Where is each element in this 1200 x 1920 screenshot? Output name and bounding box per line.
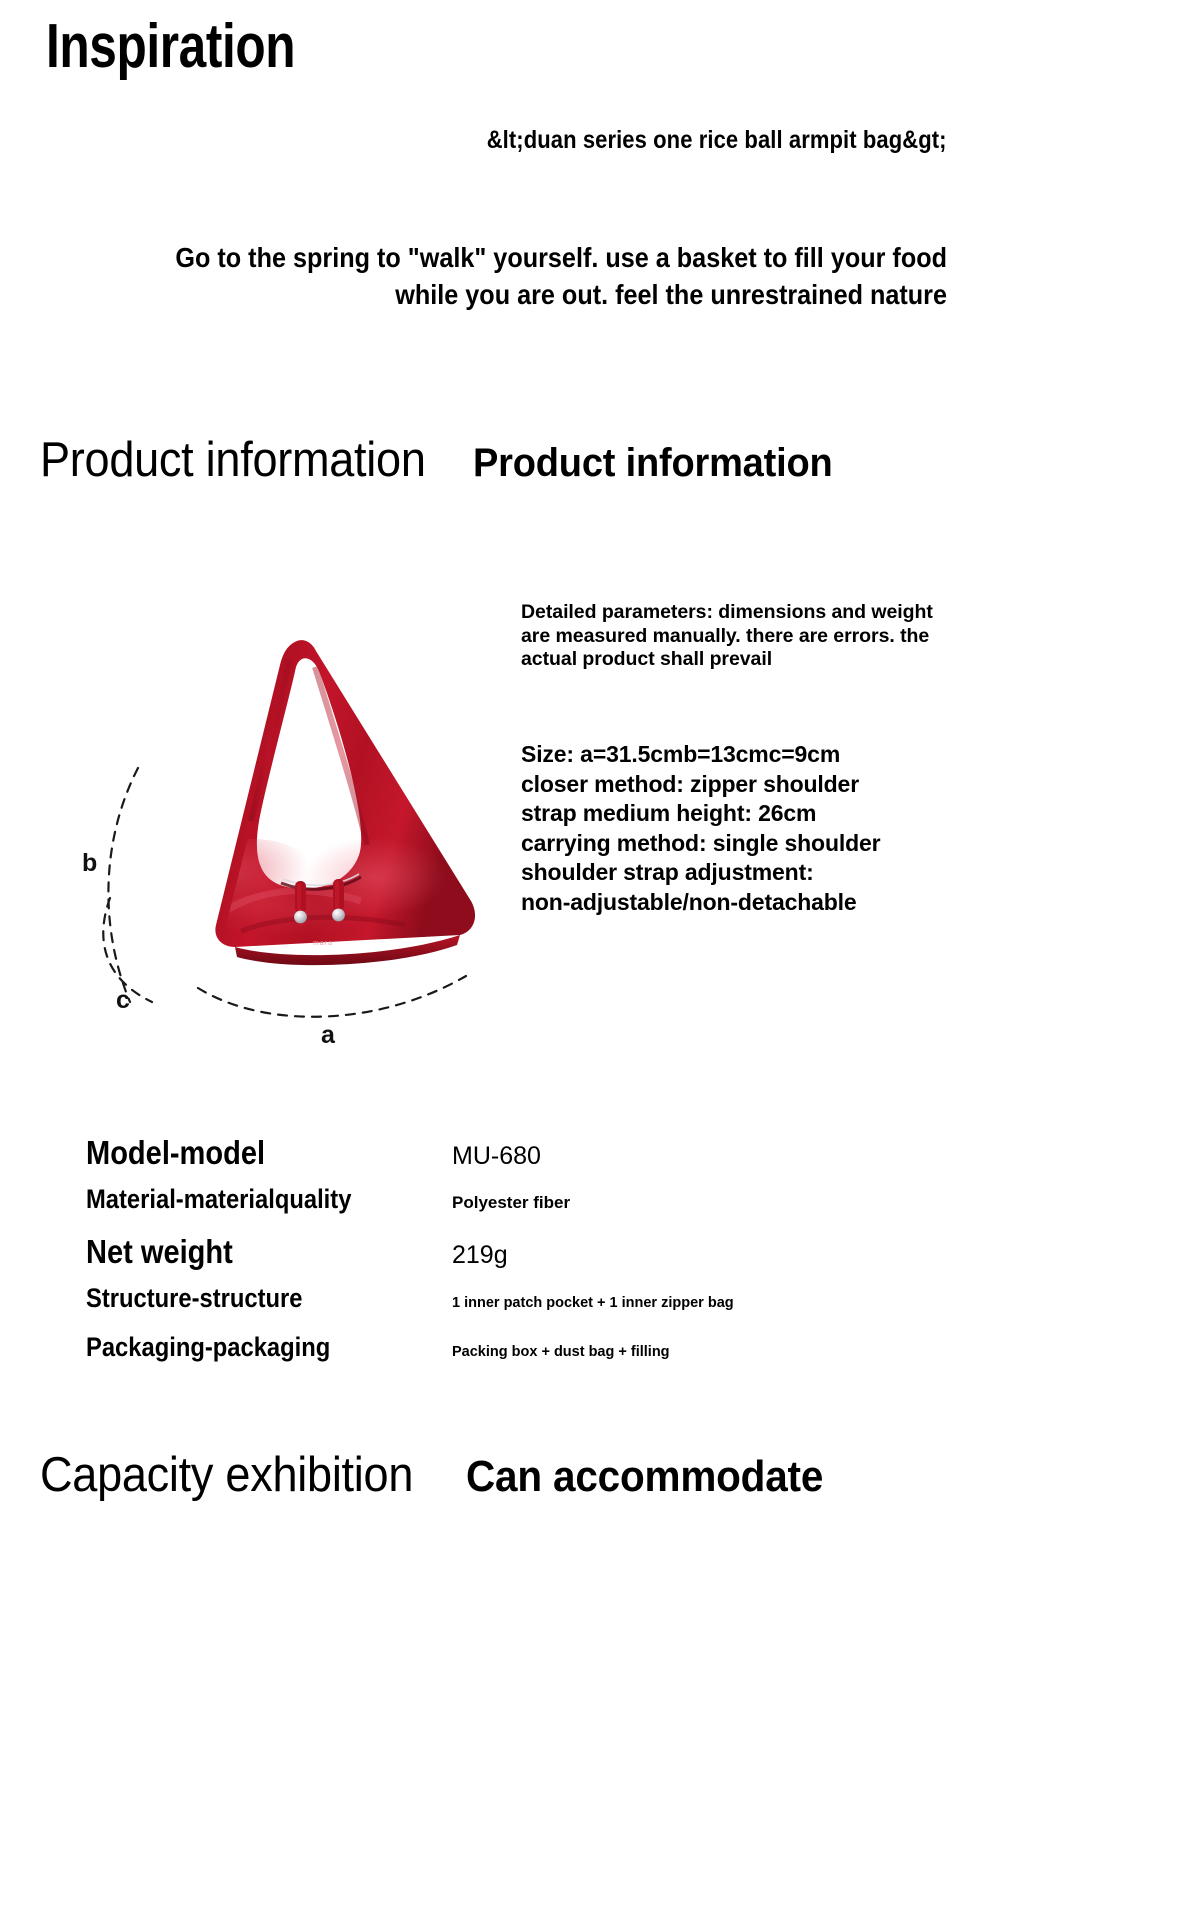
dimension-label-c: c xyxy=(116,988,130,1013)
spec-value: Packing box + dust bag + filling xyxy=(452,1344,906,1360)
table-row: Packaging-packaging Packing box + dust b… xyxy=(86,1332,906,1381)
product-information-heading: Product information Product information xyxy=(40,432,970,494)
product-image: mara xyxy=(75,615,515,1085)
product-information-heading-bold: Product information xyxy=(473,441,833,486)
series-subtitle: &lt;duan series one rice ball armpit bag… xyxy=(0,126,947,155)
capacity-exhibition-heading: Capacity exhibition Can accommodate xyxy=(40,1447,980,1503)
page-title: Inspiration xyxy=(46,14,295,79)
spec-value: 1 inner patch pocket + 1 inner zipper ba… xyxy=(452,1295,906,1311)
table-row: Model-model MU-680 xyxy=(86,1134,906,1184)
spec-label: Packaging-packaging xyxy=(86,1332,408,1363)
detailed-parameters-note: Detailed parameters: dimensions and weig… xyxy=(521,601,961,672)
strap-tab-right xyxy=(332,879,345,921)
bag-body xyxy=(183,640,475,965)
dimension-label-b: b xyxy=(82,851,97,876)
capacity-heading-bold: Can accommodate xyxy=(466,1452,823,1502)
spec-label: Model-model xyxy=(86,1134,408,1172)
spec-value: MU-680 xyxy=(452,1142,906,1171)
spec-label: Structure-structure xyxy=(86,1283,408,1314)
spec-value: Polyester fiber xyxy=(452,1193,906,1213)
bag-illustration: mara xyxy=(75,615,515,1085)
dimension-label-a: a xyxy=(321,1023,335,1048)
specification-table: Model-model MU-680 Material-materialqual… xyxy=(86,1134,906,1381)
series-subtitle-text: &lt;duan series one rice ball armpit bag… xyxy=(487,126,947,155)
spec-label: Net weight xyxy=(86,1233,408,1271)
strap-tab-left xyxy=(294,881,307,923)
spec-value: 219g xyxy=(452,1241,906,1270)
table-row: Structure-structure 1 inner patch pocket… xyxy=(86,1283,906,1332)
inspiration-body-inner: Go to the spring to "walk" yourself. use… xyxy=(155,239,947,313)
spec-label: Material-materialquality xyxy=(86,1184,408,1215)
size-specification: Size: a=31.5cmb=13cmc=9cm closer method:… xyxy=(521,740,969,917)
bag-logo: mara xyxy=(313,940,333,947)
table-row: Net weight 219g xyxy=(86,1233,906,1283)
table-row: Material-materialquality Polyester fiber xyxy=(86,1184,906,1233)
capacity-heading-light: Capacity exhibition xyxy=(40,1447,413,1503)
inspiration-body-text: Go to the spring to "walk" yourself. use… xyxy=(0,239,947,313)
product-information-heading-light: Product information xyxy=(40,432,426,488)
